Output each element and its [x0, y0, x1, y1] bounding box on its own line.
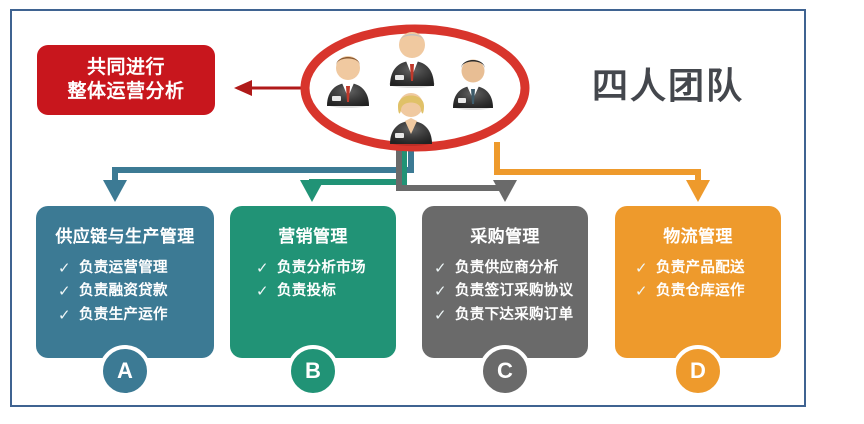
- card-item-list: ✓负责分析市场 ✓负责投标: [256, 257, 396, 304]
- check-icon: ✓: [434, 280, 449, 303]
- check-icon: ✓: [434, 257, 449, 280]
- badge-b: B: [287, 345, 339, 397]
- list-item-label: 负责投标: [277, 280, 336, 302]
- card-title: 物流管理: [615, 222, 781, 247]
- card-supply-chain[interactable]: 供应链与生产管理 ✓负责运营管理 ✓负责融资贷款 ✓负责生产运作: [36, 206, 214, 358]
- list-item: ✓负责融资贷款: [58, 280, 214, 303]
- list-item: ✓负责投标: [256, 280, 396, 303]
- card-title: 营销管理: [230, 222, 396, 247]
- badge-a: A: [99, 345, 151, 397]
- badge-c: C: [479, 345, 531, 397]
- team-avatars: [300, 26, 530, 151]
- card-item-list: ✓负责运营管理 ✓负责融资贷款 ✓负责生产运作: [58, 257, 214, 327]
- avatar-female-blonde-hair: [390, 93, 432, 146]
- card-marketing[interactable]: 营销管理 ✓负责分析市场 ✓负责投标: [230, 206, 396, 358]
- card-title: 供应链与生产管理: [36, 222, 214, 247]
- card-procurement[interactable]: 采购管理 ✓负责供应商分析 ✓负责签订采购协议 ✓负责下达采购订单: [422, 206, 588, 358]
- list-item-label: 负责运营管理: [79, 257, 168, 279]
- check-icon: ✓: [58, 257, 73, 280]
- avatar-male-black-hair: [453, 60, 493, 111]
- list-item-label: 负责分析市场: [277, 257, 366, 279]
- check-icon: ✓: [256, 257, 271, 280]
- check-icon: ✓: [58, 304, 73, 327]
- list-item: ✓负责生产运作: [58, 304, 214, 327]
- list-item: ✓负责分析市场: [256, 257, 396, 280]
- list-item-label: 负责下达采购订单: [455, 304, 573, 326]
- list-item: ✓负责签订采购协议: [434, 280, 588, 303]
- card-item-list: ✓负责产品配送 ✓负责仓库运作: [635, 257, 781, 304]
- list-item-label: 负责签订采购协议: [455, 280, 573, 302]
- check-icon: ✓: [434, 304, 449, 327]
- list-item: ✓负责供应商分析: [434, 257, 588, 280]
- diagram-canvas: 共同进行 整体运营分析 四人团队: [0, 0, 864, 424]
- list-item: ✓负责下达采购订单: [434, 304, 588, 327]
- check-icon: ✓: [256, 280, 271, 303]
- list-item: ✓负责产品配送: [635, 257, 781, 280]
- avatar-male-brown-hair: [327, 56, 369, 108]
- list-item-label: 负责生产运作: [79, 304, 168, 326]
- list-item-label: 负责供应商分析: [455, 257, 559, 279]
- list-item-label: 负责产品配送: [656, 257, 745, 279]
- card-item-list: ✓负责供应商分析 ✓负责签订采购协议 ✓负责下达采购订单: [434, 257, 588, 327]
- badge-d: D: [672, 345, 724, 397]
- check-icon: ✓: [635, 257, 650, 280]
- list-item: ✓负责仓库运作: [635, 280, 781, 303]
- check-icon: ✓: [58, 280, 73, 303]
- list-item-label: 负责融资贷款: [79, 280, 168, 302]
- card-title: 采购管理: [422, 222, 588, 247]
- check-icon: ✓: [635, 280, 650, 303]
- avatar-male-gray-hair: [389, 32, 435, 88]
- list-item: ✓负责运营管理: [58, 257, 214, 280]
- list-item-label: 负责仓库运作: [656, 280, 745, 302]
- card-logistics[interactable]: 物流管理 ✓负责产品配送 ✓负责仓库运作: [615, 206, 781, 358]
